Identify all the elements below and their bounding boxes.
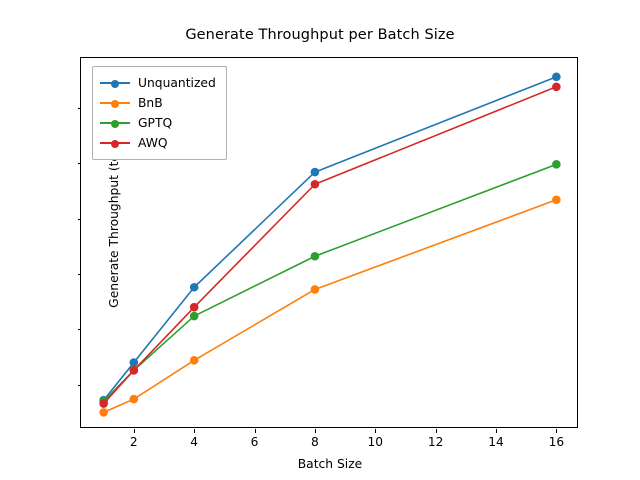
data-point (311, 168, 320, 177)
series-bnb (99, 195, 560, 416)
legend-item-bnb[interactable]: BnB (100, 93, 216, 113)
x-tick-mark (375, 429, 376, 433)
data-point (130, 358, 139, 367)
legend-label: BnB (138, 96, 163, 110)
x-tick-mark (496, 429, 497, 433)
series-line (104, 164, 557, 401)
legend-swatch-icon (100, 136, 130, 150)
legend-label: GPTQ (138, 116, 172, 130)
x-tick-mark (134, 429, 135, 433)
data-point (311, 252, 320, 261)
data-point (99, 408, 108, 417)
data-point (552, 195, 561, 204)
legend-swatch-icon (100, 96, 130, 110)
x-tick-label: 6 (235, 435, 275, 449)
y-tick-mark (78, 274, 82, 275)
data-point (552, 82, 561, 91)
legend-item-gptq[interactable]: GPTQ (100, 113, 216, 133)
legend-item-awq[interactable]: AWQ (100, 133, 216, 153)
legend-swatch-icon (100, 116, 130, 130)
x-tick-mark (255, 429, 256, 433)
legend-item-unquantized[interactable]: Unquantized (100, 73, 216, 93)
x-tick-mark (556, 429, 557, 433)
data-point (99, 399, 108, 408)
data-point (190, 303, 199, 312)
data-point (190, 356, 199, 365)
data-point (311, 285, 320, 294)
x-tick-mark (194, 429, 195, 433)
y-tick-mark (78, 108, 82, 109)
chart-legend: UnquantizedBnBGPTQAWQ (92, 66, 227, 160)
x-axis-label: Batch Size (81, 457, 579, 471)
data-point (552, 73, 561, 82)
x-tick-label: 2 (114, 435, 154, 449)
x-tick-label: 12 (416, 435, 456, 449)
x-tick-label: 14 (476, 435, 516, 449)
x-tick-label: 10 (355, 435, 395, 449)
legend-swatch-icon (100, 76, 130, 90)
y-tick-mark (78, 385, 82, 386)
data-point (130, 395, 139, 404)
legend-label: AWQ (138, 136, 168, 150)
y-tick-mark (78, 329, 82, 330)
x-tick-label: 8 (295, 435, 335, 449)
y-tick-mark (78, 219, 82, 220)
data-point (190, 283, 199, 292)
chart-figure: Generate Throughput per Batch Size 50100… (0, 0, 640, 480)
legend-label: Unquantized (138, 76, 216, 90)
data-point (190, 312, 199, 321)
data-point (130, 366, 139, 375)
series-line (104, 200, 557, 413)
x-tick-label: 16 (536, 435, 576, 449)
chart-title: Generate Throughput per Batch Size (0, 27, 640, 43)
y-tick-mark (78, 163, 82, 164)
plot-area: 50100150200250300 246810121416 Batch Siz… (80, 57, 578, 428)
series-gptq (99, 160, 560, 406)
x-tick-mark (436, 429, 437, 433)
data-point (311, 180, 320, 189)
data-point (552, 160, 561, 169)
x-tick-label: 4 (174, 435, 214, 449)
x-tick-mark (315, 429, 316, 433)
